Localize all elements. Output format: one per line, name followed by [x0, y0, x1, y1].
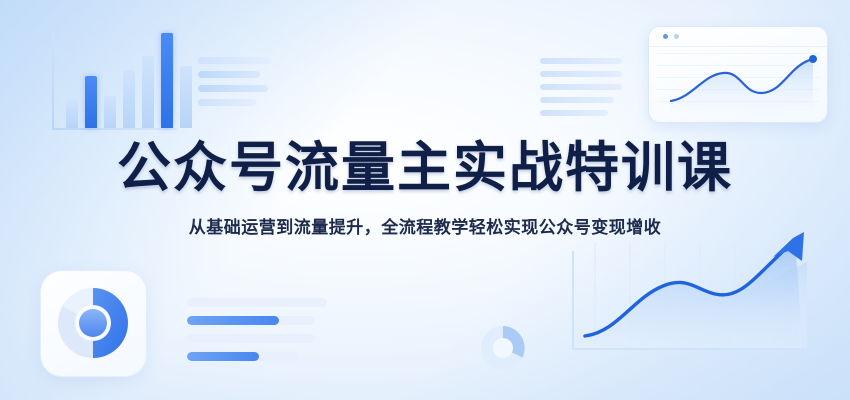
text-line — [198, 57, 270, 64]
donut-chart — [53, 283, 133, 363]
text-line — [198, 85, 268, 92]
banner-text-block: 公众号流量主实战特训课 从基础运营到流量提升，全流程教学轻松实现公众号变现增收 — [0, 140, 850, 238]
bar-chart-bar — [104, 96, 116, 128]
banner-subtitle: 从基础运营到流量提升，全流程教学轻松实现公众号变现增收 — [0, 213, 850, 238]
browser-card — [648, 26, 828, 123]
progress-bar-row — [187, 352, 299, 361]
donut-center-circle — [79, 309, 107, 337]
donut-chart-card — [40, 270, 147, 377]
growth-arrow-chart — [555, 228, 840, 378]
course-promo-banner: 公众号流量主实战特训课 从基础运营到流量提升，全流程教学轻松实现公众号变现增收 — [0, 0, 850, 400]
text-line — [540, 84, 622, 90]
mini-donut-chart — [478, 323, 528, 378]
text-line — [540, 97, 614, 103]
text-line — [540, 110, 608, 116]
text-line — [540, 71, 622, 77]
text-line — [540, 58, 622, 64]
bar-chart — [52, 30, 177, 130]
text-lines-top-center — [540, 58, 622, 123]
progress-bar-fill — [187, 352, 259, 361]
text-line — [198, 99, 256, 106]
progress-bar-row — [187, 298, 327, 307]
bar-chart-x-axis — [52, 128, 177, 130]
text-line — [198, 71, 260, 78]
mini-donut-hole — [493, 338, 513, 358]
bar-chart-bar — [123, 70, 135, 128]
bar-chart-y-axis — [52, 30, 54, 130]
bar-chart-bar — [161, 33, 173, 128]
progress-bar-fill — [187, 316, 279, 325]
bar-chart-bar — [180, 66, 192, 128]
bar-chart-bar — [142, 56, 154, 128]
line-chart-area — [671, 59, 813, 111]
bar-chart-bar — [85, 76, 97, 128]
text-lines-top-left — [198, 57, 270, 113]
progress-bar-row — [187, 316, 315, 325]
browser-card-line-chart — [649, 27, 827, 122]
banner-title: 公众号流量主实战特训课 — [0, 140, 850, 197]
line-chart-endpoint-dot — [809, 55, 817, 63]
bar-chart-bar — [66, 100, 78, 128]
progress-bars — [187, 298, 327, 370]
progress-bar-row — [187, 334, 315, 343]
